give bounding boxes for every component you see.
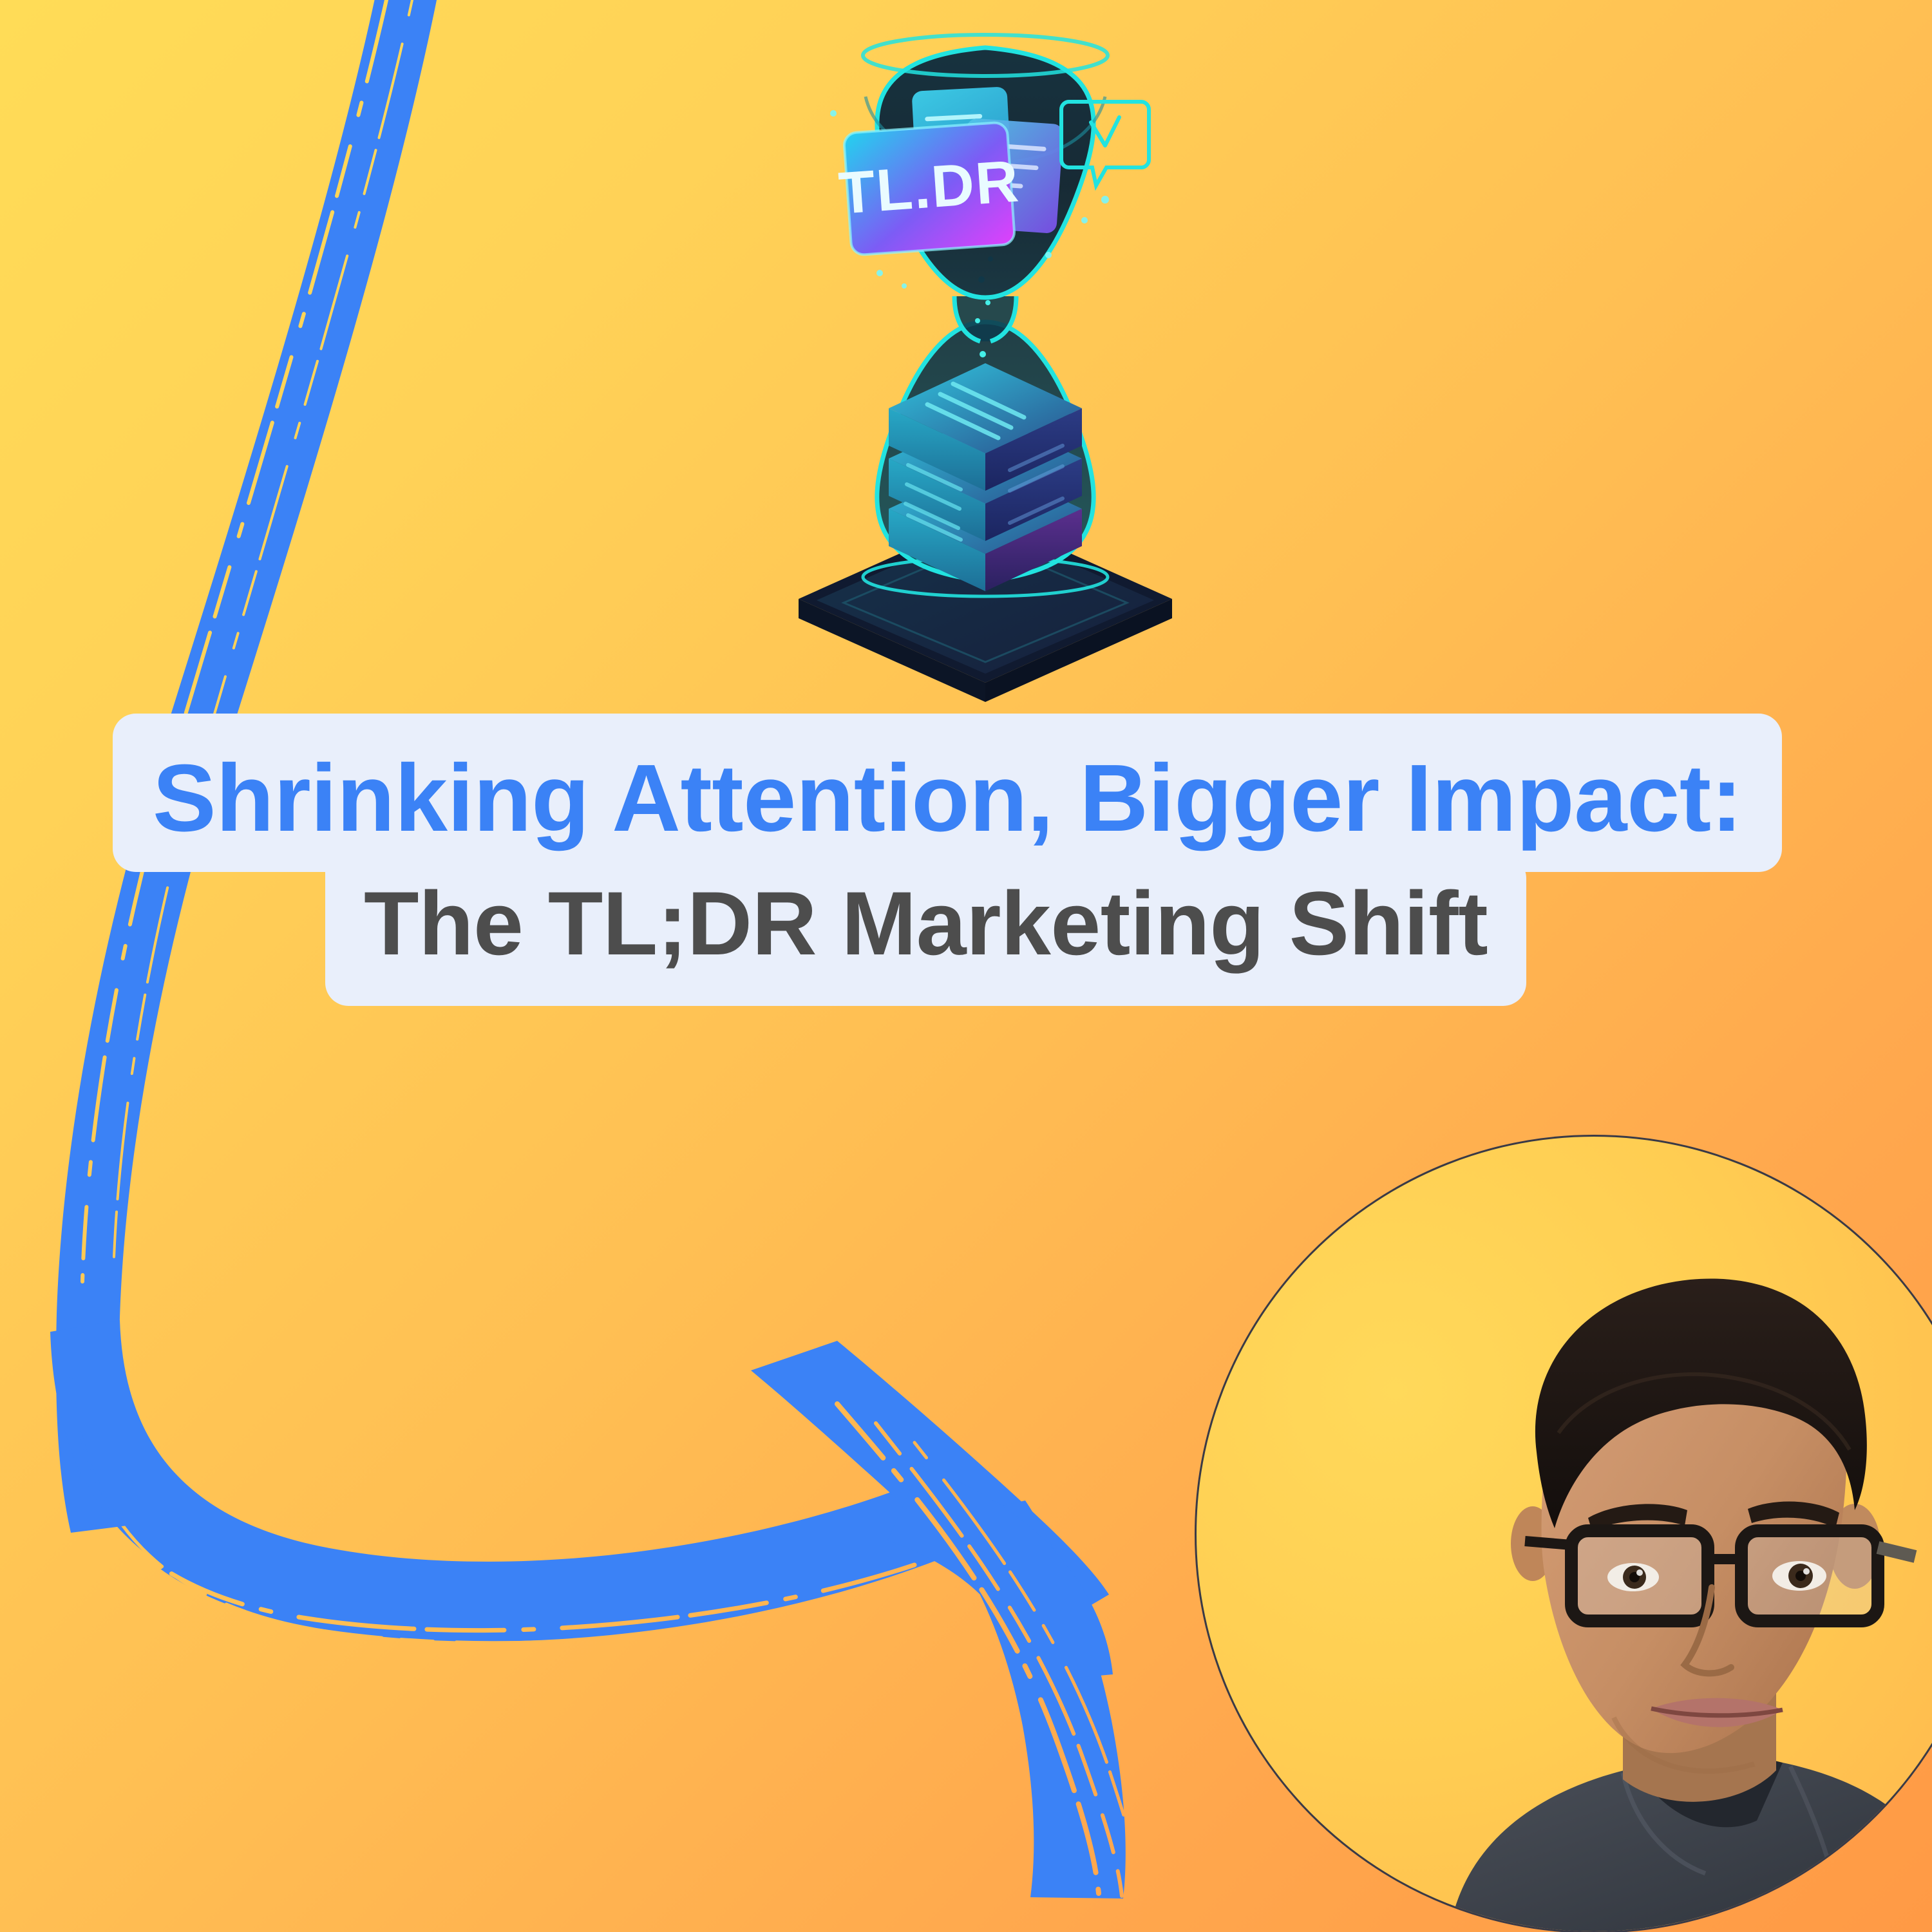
tldr-card: TL.DR xyxy=(837,122,1021,255)
document-block-stack xyxy=(889,363,1082,591)
curved-arrow-brush-stroke xyxy=(50,1320,1126,1899)
page-title-line-2: The TL;DR Marketing Shift xyxy=(325,855,1526,1006)
hourglass-illustration: TL.DR xyxy=(721,19,1249,702)
title-block: Shrinking Attention, Bigger Impact: The … xyxy=(0,714,1932,1006)
speaker-portrait xyxy=(1195,1135,1932,1932)
tldr-card-label: TL.DR xyxy=(837,148,1021,226)
portrait-photo xyxy=(1332,1240,1932,1932)
page-title-line-1: Shrinking Attention, Bigger Impact: xyxy=(113,714,1782,872)
poster-canvas: TL.DR Shrinking Attenti xyxy=(0,0,1932,1932)
